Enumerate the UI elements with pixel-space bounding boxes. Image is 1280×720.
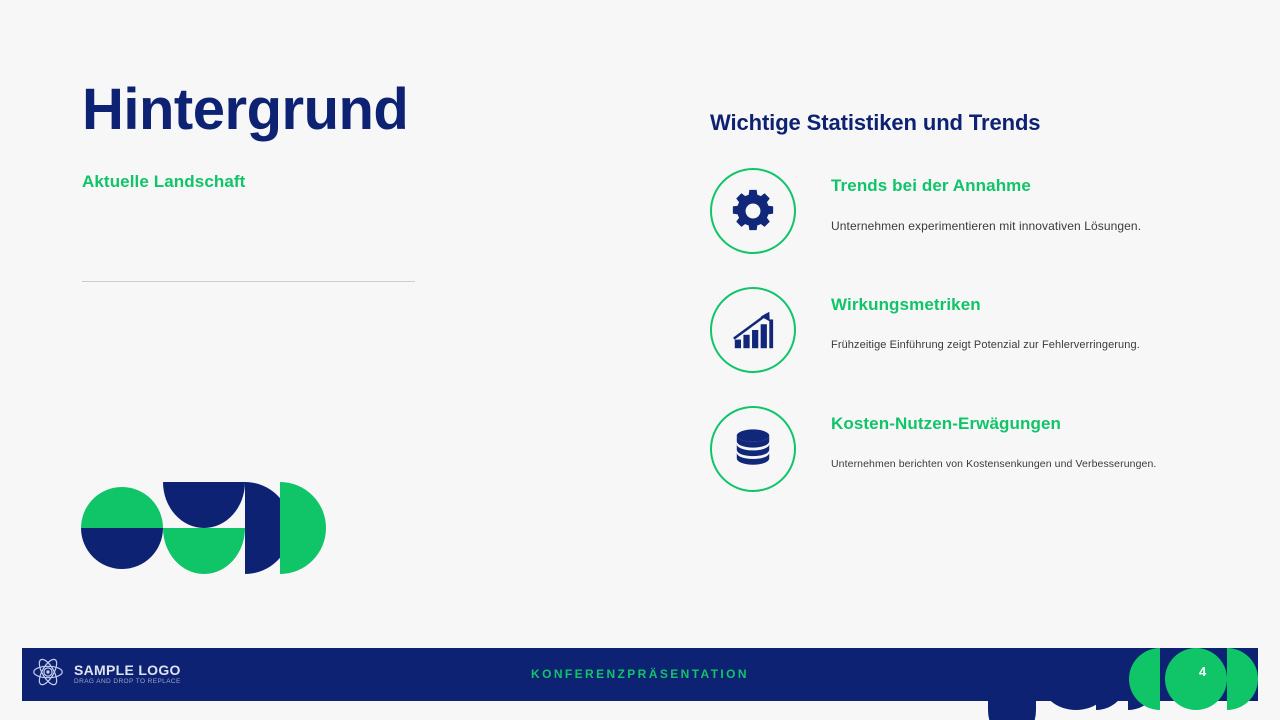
- slide-subtitle: Aktuelle Landschaft: [82, 172, 245, 192]
- feature-title: Trends bei der Annahme: [831, 176, 1141, 196]
- feature-item-cost-benefit: Kosten-Nutzen-Erwägungen Unternehmen ber…: [710, 406, 1210, 494]
- feature-title: Kosten-Nutzen-Erwägungen: [831, 414, 1156, 434]
- feature-description: Frühzeitige Einführung zeigt Potenzial z…: [831, 337, 1140, 353]
- database-stack-icon: [710, 406, 796, 492]
- feature-description: Unternehmen experimentieren mit innovati…: [831, 218, 1141, 234]
- horizontal-divider: [82, 281, 415, 282]
- feature-item-trends: Trends bei der Annahme Unternehmen exper…: [710, 168, 1210, 256]
- feature-text-block: Trends bei der Annahme Unternehmen exper…: [831, 168, 1141, 234]
- slide-canvas: Hintergrund Aktuelle Landschaft Wichtige…: [0, 0, 1280, 720]
- feature-item-metrics: Wirkungsmetriken Frühzeitige Einführung …: [710, 287, 1210, 375]
- page-title: Hintergrund: [82, 78, 512, 142]
- feature-description: Unternehmen berichten von Kostensenkunge…: [831, 456, 1156, 472]
- section-heading: Wichtige Statistiken und Trends: [710, 110, 1210, 136]
- gear-icon: [710, 168, 796, 254]
- footer-center-text: KONFERENZPRÄSENTATION: [22, 667, 1258, 681]
- feature-text-block: Wirkungsmetriken Frühzeitige Einführung …: [831, 287, 1140, 353]
- footer-bar: SAMPLE LOGO DRAG AND DROP TO REPLACE KON…: [22, 648, 1258, 701]
- feature-text-block: Kosten-Nutzen-Erwägungen Unternehmen ber…: [831, 406, 1156, 472]
- feature-title: Wirkungsmetriken: [831, 295, 1140, 315]
- left-column: Hintergrund: [82, 78, 512, 142]
- bar-chart-growth-icon: [710, 287, 796, 373]
- decorative-shapes-left: [81, 482, 326, 574]
- right-column: Wichtige Statistiken und Trends Trends b…: [710, 110, 1210, 525]
- page-number: 4: [1199, 664, 1206, 679]
